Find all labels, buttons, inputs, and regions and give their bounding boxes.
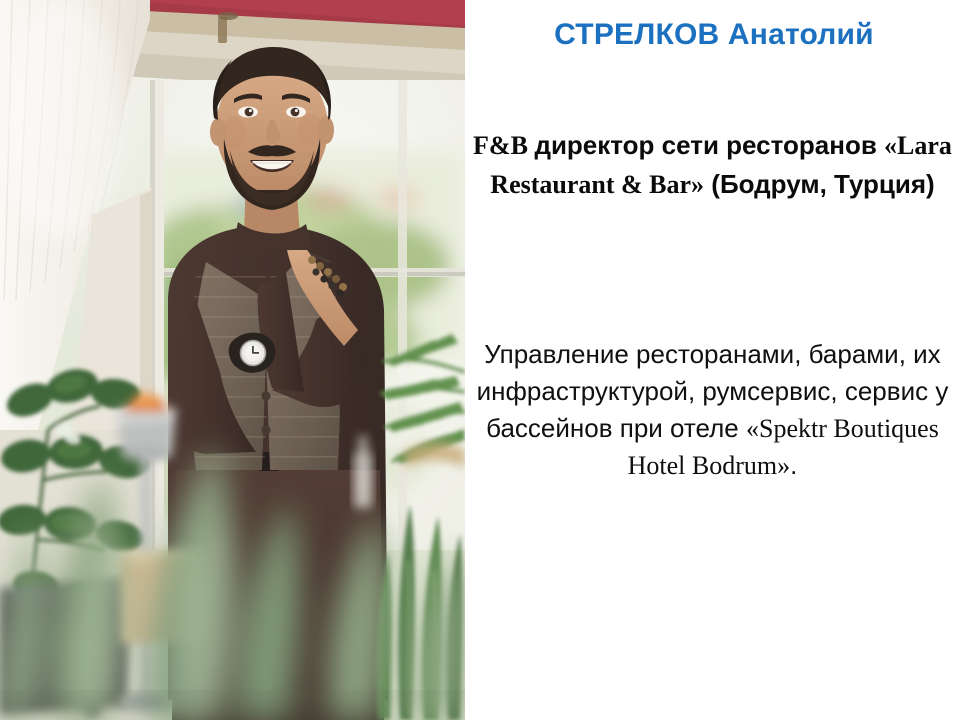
subtitle-segment-director: директор сети ресторанов	[534, 130, 884, 160]
speaker-position-subtitle: F&B директор сети ресторанов «Lara Resta…	[469, 126, 956, 204]
text-panel: СТРЕЛКОВ Анатолий F&B директор сети рест…	[465, 0, 960, 720]
speaker-photo	[0, 0, 465, 720]
speaker-description-body: Управление ресторанами, барами, их инфра…	[469, 336, 956, 484]
presentation-slide: СТРЕЛКОВ Анатолий F&B директор сети рест…	[0, 0, 960, 720]
subtitle-segment-location: (Бодрум, Турция)	[704, 169, 935, 199]
speaker-photo-illustration	[0, 0, 465, 720]
subtitle-segment-fnb: F&B	[473, 131, 534, 160]
speaker-name-title: СТРЕЛКОВ Анатолий	[475, 18, 953, 52]
body-segment-period: .	[790, 450, 797, 480]
